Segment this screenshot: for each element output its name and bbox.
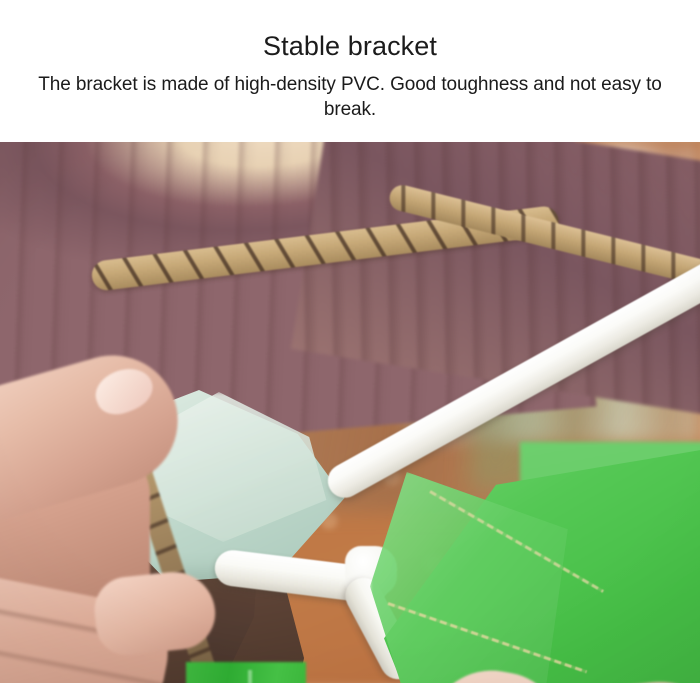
product-photo (0, 142, 700, 683)
header-text-block: Stable bracket The bracket is made of hi… (0, 0, 700, 142)
green-fabric-column (186, 662, 306, 683)
page-subtitle: The bracket is made of high-density PVC.… (0, 72, 700, 122)
footer-whitespace (0, 683, 700, 700)
product-detail-page: Stable bracket The bracket is made of hi… (0, 0, 700, 700)
page-title: Stable bracket (0, 30, 700, 63)
green-fabric-column-seam (248, 670, 252, 683)
